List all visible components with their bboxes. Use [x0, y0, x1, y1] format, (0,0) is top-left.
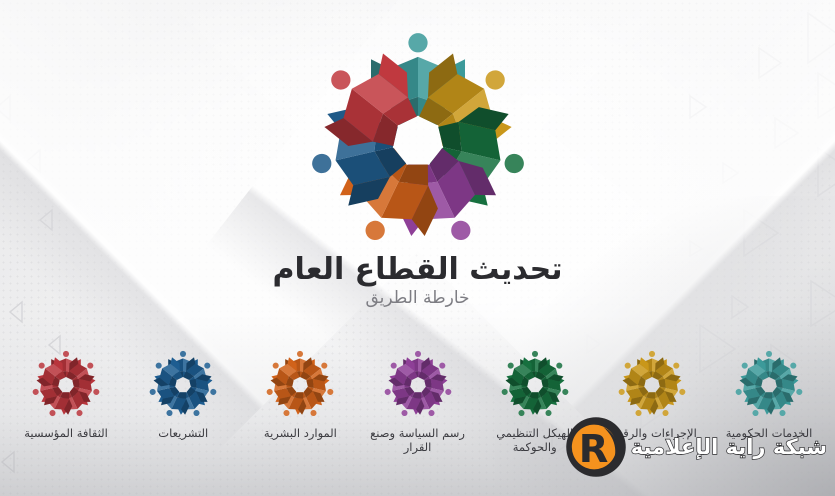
logo-person-head — [310, 409, 318, 417]
watermark-r-badge-icon: R — [565, 416, 627, 478]
slide-canvas: تحديث القطاع العام خارطة الطريق الثقافة … — [0, 0, 835, 496]
logo-person-head — [93, 388, 100, 395]
logo-person-head — [502, 152, 525, 175]
logo-person-head — [327, 66, 354, 93]
logo-person-head — [740, 361, 749, 370]
logo-person-head — [327, 388, 334, 395]
logo-person-head — [37, 361, 46, 370]
people-circle-icon — [29, 348, 103, 422]
logo-person-head — [166, 409, 174, 417]
logo-person-head — [384, 388, 391, 395]
logo-person-head — [481, 66, 508, 93]
badge-letter: R — [578, 427, 608, 472]
logo-person-head — [618, 388, 625, 395]
logo-person-head — [444, 388, 451, 395]
logo-person-head — [283, 409, 291, 417]
pillar-label: الموارد البشرية — [264, 426, 337, 440]
page-subtitle: خارطة الطريق — [0, 288, 835, 308]
pillar-item-institutional-culture[interactable]: الثقافة المؤسسية — [8, 348, 124, 455]
pillar-label: الثقافة المؤسسية — [24, 426, 108, 440]
logo-person-head — [532, 351, 538, 357]
logo-person-head — [155, 361, 164, 370]
people-circle-icon — [381, 348, 455, 422]
watermark-text: شبكة راية الإعلامية — [631, 435, 827, 459]
logo-person-head — [203, 361, 212, 370]
logo-person-head — [408, 33, 427, 52]
logo-person-head — [63, 351, 69, 357]
page-title: تحديث القطاع العام — [0, 252, 835, 288]
logo-person-head — [427, 409, 435, 417]
people-circle-icon — [263, 348, 337, 422]
logo-person-head — [623, 361, 632, 370]
logo-person-head — [362, 218, 388, 244]
logo-person-head — [506, 361, 515, 370]
logo-person-head — [544, 409, 552, 417]
people-circle-icon — [146, 348, 220, 422]
logo-person-head — [297, 351, 303, 357]
logo-person-head — [310, 152, 333, 175]
logo-person-head — [49, 409, 57, 417]
logo-person-head — [789, 361, 798, 370]
logo-person-head — [75, 409, 83, 417]
logo-person-head — [735, 388, 742, 395]
pillar-item-legislation[interactable]: التشريعات — [125, 348, 241, 455]
logo-person-head — [447, 218, 473, 244]
pillar-label: التشريعات — [158, 426, 208, 440]
logo-person-head — [766, 351, 772, 357]
logo-person-head — [389, 361, 398, 370]
people-circle-icon — [732, 348, 806, 422]
logo-person-head — [501, 388, 508, 395]
logo-person-head — [679, 388, 686, 395]
logo-person-head — [210, 388, 217, 395]
pillar-label: رسم السياسة وصنع القرار — [362, 426, 474, 455]
logo-person-head — [86, 361, 95, 370]
pillar-item-human-resources[interactable]: الموارد البشرية — [242, 348, 358, 455]
logo-person-head — [32, 388, 39, 395]
logo-person-head — [438, 361, 447, 370]
main-logo — [293, 24, 543, 259]
logo-person-head — [649, 351, 655, 357]
logo-person-head — [796, 388, 803, 395]
watermark: شبكة راية الإعلامية R — [565, 416, 827, 478]
logo-person-head — [672, 361, 681, 370]
logo-person-head — [400, 409, 408, 417]
people-circle-icon — [615, 348, 689, 422]
logo-person-head — [414, 351, 420, 357]
logo-person-head — [320, 361, 329, 370]
logo-person-head — [266, 388, 273, 395]
main-logo-graphic — [293, 24, 543, 259]
logo-person-head — [180, 351, 186, 357]
logo-person-head — [517, 409, 525, 417]
logo-person-head — [555, 361, 564, 370]
logo-person-head — [272, 361, 281, 370]
people-circle-icon — [498, 348, 572, 422]
pillar-item-policy-and-decision-making[interactable]: رسم السياسة وصنع القرار — [360, 348, 476, 455]
logo-person-head — [561, 388, 568, 395]
logo-person-head — [193, 409, 201, 417]
logo-person-head — [149, 388, 156, 395]
